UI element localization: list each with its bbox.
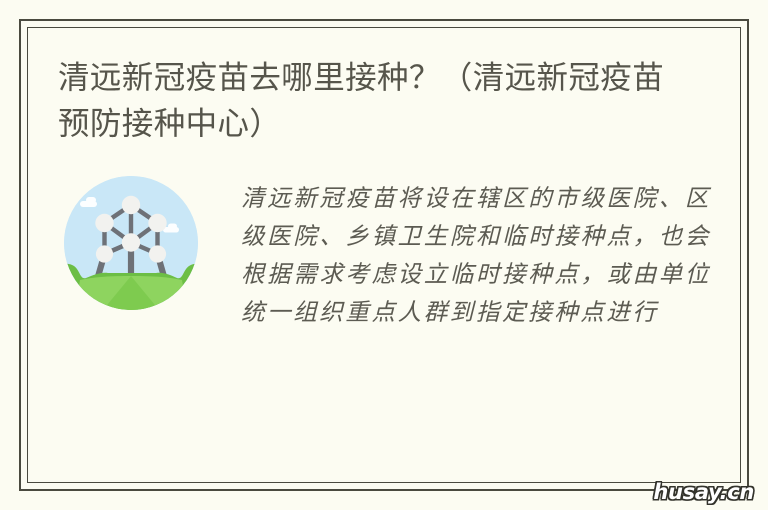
article-paragraph: 清远新冠疫苗将设在辖区的市级医院、区级医院、乡镇卫生院和临时接种点，也会根据需求…: [198, 173, 711, 331]
card-content: 清远新冠疫苗去哪里接种？（清远新冠疫苗预防接种中心）: [27, 27, 741, 483]
page-title: 清远新冠疫苗去哪里接种？（清远新冠疫苗预防接种中心）: [58, 54, 668, 147]
article-card: 清远新冠疫苗去哪里接种？（清远新冠疫苗预防接种中心）: [0, 0, 768, 510]
atomium-monument-icon: [64, 176, 198, 310]
site-watermark: husay.cn: [653, 480, 754, 504]
article-body: 清远新冠疫苗将设在辖区的市级医院、区级医院、乡镇卫生院和临时接种点，也会根据需求…: [58, 173, 711, 331]
atomium-illustration-svg: [64, 176, 198, 310]
